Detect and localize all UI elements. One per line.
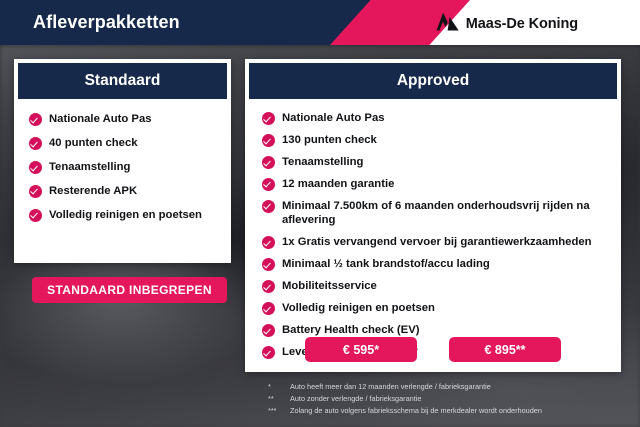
feature-label: Mobiliteitsservice	[282, 279, 377, 293]
check-icon	[262, 200, 275, 213]
list-item: Minimaal 7.500km of 6 maanden onderhouds…	[262, 199, 607, 228]
footnote-text: Zolang de auto volgens fabrieksschema bi…	[290, 405, 628, 417]
footnote-triple-asterisk: *** Zolang de auto volgens fabrieksschem…	[268, 405, 628, 417]
list-item: Minimaal ½ tank brandstof/accu lading	[262, 257, 607, 271]
list-item: 12 maanden garantie	[262, 177, 607, 191]
check-icon	[262, 302, 275, 315]
list-item: Tenaamstelling	[262, 155, 607, 169]
check-icon	[29, 185, 42, 198]
footnote-single-asterisk: * Auto heeft meer dan 12 maanden verleng…	[268, 381, 628, 393]
feature-label: 1x Gratis vervangend vervoer bij garanti…	[282, 235, 592, 249]
approved-feature-list: Nationale Auto Pas 130 punten check Tena…	[262, 111, 621, 359]
list-item: Mobiliteitsservice	[262, 279, 607, 293]
feature-label: Nationale Auto Pas	[49, 112, 152, 126]
check-icon	[262, 134, 275, 147]
list-item: Volledig reinigen en poetsen	[29, 208, 231, 222]
maas-de-koning-m-icon	[436, 12, 459, 36]
brand-logo: Maas-De Koning	[436, 12, 578, 36]
feature-label: Minimaal 7.500km of 6 maanden onderhouds…	[282, 199, 607, 228]
feature-label: Minimaal ½ tank brandstof/accu lading	[282, 257, 490, 271]
feature-label: 130 punten check	[282, 133, 377, 147]
feature-label: Volledig reinigen en poetsen	[49, 208, 202, 222]
list-item: Battery Health check (EV)	[262, 323, 607, 337]
list-item: Nationale Auto Pas	[262, 111, 607, 125]
footnote-text: Auto heeft meer dan 12 maanden verlengde…	[290, 381, 628, 393]
check-icon	[29, 113, 42, 126]
feature-label: Tenaamstelling	[49, 160, 130, 174]
footnote-marker: *	[268, 381, 290, 393]
feature-label: 40 punten check	[49, 136, 138, 150]
standaard-card: Standaard Nationale Auto Pas 40 punten c…	[14, 59, 231, 263]
list-item: Tenaamstelling	[29, 160, 231, 174]
footnote-marker: **	[268, 393, 290, 405]
feature-label: Volledig reinigen en poetsen	[282, 301, 435, 315]
standaard-card-title: Standaard	[18, 63, 227, 99]
footnote-double-asterisk: ** Auto zonder verlengde / fabrieksgaran…	[268, 393, 628, 405]
footnote-marker: ***	[268, 405, 290, 417]
list-item: 40 punten check	[29, 136, 231, 150]
list-item: 130 punten check	[262, 133, 607, 147]
footnote-text: Auto zonder verlengde / fabrieksgarantie	[290, 393, 628, 405]
check-icon	[262, 324, 275, 337]
list-item: Nationale Auto Pas	[29, 112, 231, 126]
list-item: Volledig reinigen en poetsen	[262, 301, 607, 315]
feature-label: 12 maanden garantie	[282, 177, 394, 191]
check-icon	[29, 209, 42, 222]
feature-label: Tenaamstelling	[282, 155, 363, 169]
page-header: Afleverpakketten Maas-De Koning	[0, 0, 640, 45]
approved-card-title: Approved	[249, 63, 617, 99]
check-icon	[262, 112, 275, 125]
standaard-feature-list: Nationale Auto Pas 40 punten check Tenaa…	[29, 112, 231, 222]
brand-name: Maas-De Koning	[466, 16, 578, 32]
check-icon	[262, 178, 275, 191]
price-button-595[interactable]: € 595*	[305, 337, 417, 362]
footnotes: * Auto heeft meer dan 12 maanden verleng…	[268, 381, 628, 416]
price-button-895[interactable]: € 895**	[449, 337, 561, 362]
list-item: 1x Gratis vervangend vervoer bij garanti…	[262, 235, 607, 249]
feature-label: Nationale Auto Pas	[282, 111, 385, 125]
check-icon	[262, 280, 275, 293]
page-root: Afleverpakketten Maas-De Koning Standaar…	[0, 0, 640, 427]
list-item: Resterende APK	[29, 184, 231, 198]
feature-label: Battery Health check (EV)	[282, 323, 420, 337]
approved-card: Approved Nationale Auto Pas 130 punten c…	[245, 59, 621, 372]
check-icon	[262, 258, 275, 271]
standaard-inbegrepen-button[interactable]: STANDAARD INBEGREPEN	[32, 277, 227, 303]
feature-label: Resterende APK	[49, 184, 137, 198]
check-icon	[29, 137, 42, 150]
check-icon	[262, 236, 275, 249]
check-icon	[29, 161, 42, 174]
page-title: Afleverpakketten	[33, 12, 180, 33]
header-shadow	[0, 45, 640, 49]
check-icon	[262, 156, 275, 169]
price-button-row: € 595* € 895**	[245, 337, 621, 362]
